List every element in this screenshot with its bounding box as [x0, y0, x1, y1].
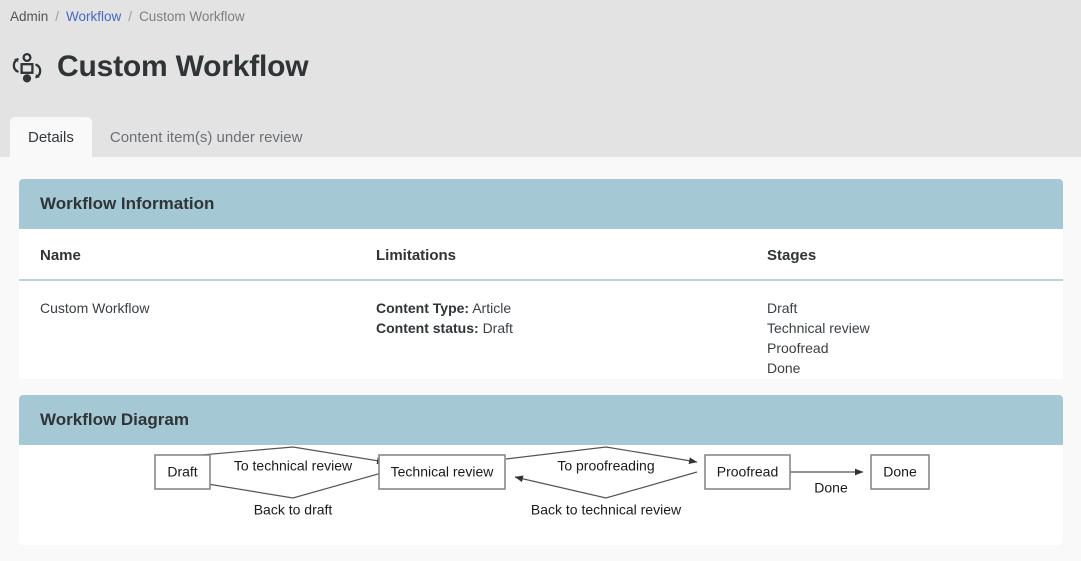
table-row: Custom Workflow Content Type: Article Co…	[19, 280, 1063, 378]
table-header-row: Name Limitations Stages	[19, 229, 1063, 280]
workflow-icon	[10, 51, 44, 85]
edge-to-proofreading-label: To proofreading	[557, 458, 654, 474]
limitation-content-type-key: Content Type:	[376, 300, 469, 316]
breadcrumb-separator: /	[121, 9, 139, 24]
page-title: Custom Workflow	[57, 50, 308, 84]
page-title-row: Custom Workflow	[10, 48, 308, 85]
breadcrumb: Admin/Workflow/Custom Workflow	[10, 8, 245, 26]
stage-item: Technical review	[767, 318, 1063, 338]
edge-back-to-draft-label: Back to draft	[254, 502, 333, 518]
workflow-diagram-header: Workflow Diagram	[19, 395, 1063, 445]
limitation-content-type-value: Article	[472, 300, 511, 316]
column-header-limitations: Limitations	[376, 229, 767, 280]
stage-item: Proofread	[767, 338, 1063, 358]
tab-content-items-under-review[interactable]: Content item(s) under review	[92, 117, 321, 157]
node-technical-review-label: Technical review	[391, 464, 495, 480]
node-proofread-label: Proofread	[717, 464, 778, 480]
breadcrumb-item-current: Custom Workflow	[139, 9, 245, 24]
edge-back-to-technical-review-label: Back to technical review	[531, 502, 682, 518]
workflow-diagram-card: Workflow Diagram To technical review Bac…	[19, 395, 1063, 545]
cell-limitations: Content Type: Article Content status: Dr…	[376, 280, 767, 378]
top-chrome: Admin/Workflow/Custom Workflow Custom Wo…	[0, 0, 1081, 157]
limitation-content-type: Content Type: Article	[376, 298, 767, 318]
workflow-information-table: Name Limitations Stages Custom Workflow …	[19, 229, 1063, 378]
edge-to-technical-review-label: To technical review	[234, 458, 353, 474]
breadcrumb-item-admin: Admin	[10, 9, 48, 24]
tab-content-items-under-review-label: Content item(s) under review	[110, 129, 303, 146]
workflow-diagram-svg: To technical review Back to draft To pro…	[19, 445, 1063, 545]
node-done-label: Done	[883, 464, 917, 480]
breadcrumb-item-workflow[interactable]: Workflow	[66, 9, 121, 24]
node-proofread[interactable]: Proofread	[705, 455, 790, 489]
workflow-information-header: Workflow Information	[19, 179, 1063, 229]
workflow-information-card: Workflow Information Name Limitations St…	[19, 179, 1063, 379]
node-technical-review[interactable]: Technical review	[379, 455, 505, 489]
column-header-name: Name	[19, 229, 376, 280]
cell-name: Custom Workflow	[19, 280, 376, 378]
edge-done-label: Done	[814, 480, 848, 496]
node-draft[interactable]: Draft	[155, 455, 210, 489]
column-header-stages: Stages	[767, 229, 1063, 280]
limitation-content-status: Content status: Draft	[376, 318, 767, 338]
workflow-information-title: Workflow Information	[40, 194, 214, 214]
limitation-content-status-key: Content status:	[376, 320, 479, 336]
workflow-diagram-body: To technical review Back to draft To pro…	[19, 445, 1063, 545]
tab-details-label: Details	[28, 129, 74, 146]
tab-bar: Details Content item(s) under review	[10, 117, 320, 157]
node-draft-label: Draft	[167, 464, 197, 480]
tab-details[interactable]: Details	[10, 117, 92, 157]
cell-stages: Draft Technical review Proofread Done	[767, 280, 1063, 378]
stage-item: Done	[767, 358, 1063, 378]
limitation-content-status-value: Draft	[483, 320, 513, 336]
node-done[interactable]: Done	[871, 455, 929, 489]
stage-item: Draft	[767, 298, 1063, 318]
breadcrumb-separator: /	[48, 9, 66, 24]
main-content: Workflow Information Name Limitations St…	[0, 157, 1081, 561]
workflow-diagram-title: Workflow Diagram	[40, 410, 189, 430]
edge-back-to-technical-review-line	[515, 472, 697, 498]
